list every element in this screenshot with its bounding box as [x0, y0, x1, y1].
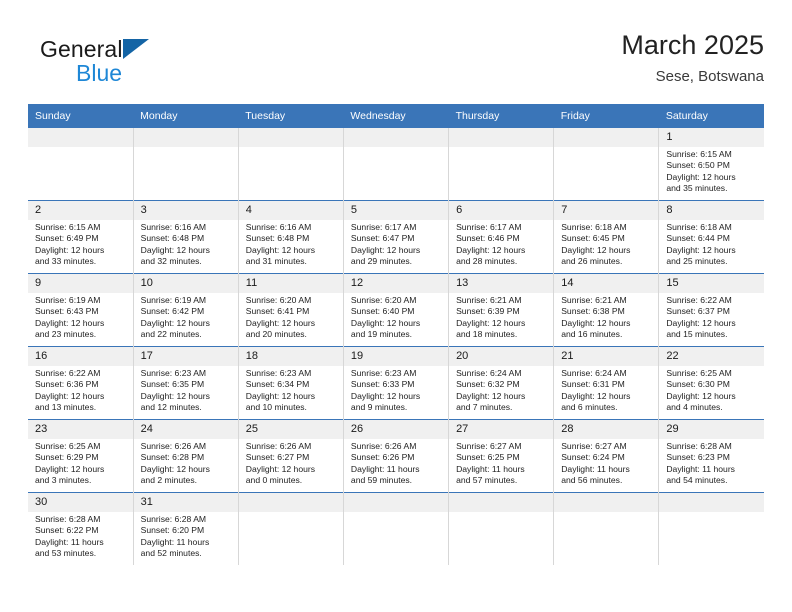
day-detail-line: Sunset: 6:41 PM [246, 306, 339, 317]
day-number: 18 [239, 347, 343, 366]
day-number: 17 [134, 347, 238, 366]
day-detail-line: Sunrise: 6:19 AM [35, 295, 129, 306]
day-details: Sunrise: 6:22 AMSunset: 6:37 PMDaylight:… [659, 293, 764, 343]
day-number: 26 [344, 420, 448, 439]
day-detail-line: Sunrise: 6:15 AM [666, 149, 760, 160]
brand-text-blue: Blue [76, 60, 260, 86]
day-details: Sunrise: 6:28 AMSunset: 6:23 PMDaylight:… [659, 439, 764, 489]
calendar-day-cell[interactable]: 10Sunrise: 6:19 AMSunset: 6:42 PMDayligh… [133, 274, 238, 347]
calendar-empty-cell [343, 493, 448, 566]
day-number: 30 [28, 493, 133, 512]
day-detail-line: and 7 minutes. [456, 402, 549, 413]
day-number: 7 [554, 201, 658, 220]
day-detail-line: Sunset: 6:26 PM [351, 452, 444, 463]
day-detail-line: Sunset: 6:35 PM [141, 379, 234, 390]
day-detail-line: Daylight: 12 hours [246, 318, 339, 329]
day-detail-line: Sunrise: 6:16 AM [246, 222, 339, 233]
day-number: 9 [28, 274, 133, 293]
calendar-day-cell[interactable]: 9Sunrise: 6:19 AMSunset: 6:43 PMDaylight… [28, 274, 133, 347]
day-detail-line: Sunset: 6:48 PM [246, 233, 339, 244]
day-detail-line: Daylight: 12 hours [456, 318, 549, 329]
day-details: Sunrise: 6:16 AMSunset: 6:48 PMDaylight:… [134, 220, 238, 270]
day-detail-line: Sunrise: 6:27 AM [456, 441, 549, 452]
calendar-day-cell[interactable]: 14Sunrise: 6:21 AMSunset: 6:38 PMDayligh… [554, 274, 659, 347]
day-number: 21 [554, 347, 658, 366]
day-detail-line: and 25 minutes. [666, 256, 760, 267]
calendar-day-cell[interactable]: 16Sunrise: 6:22 AMSunset: 6:36 PMDayligh… [28, 347, 133, 420]
day-detail-line: and 0 minutes. [246, 475, 339, 486]
calendar-day-cell[interactable]: 25Sunrise: 6:26 AMSunset: 6:27 PMDayligh… [238, 420, 343, 493]
day-detail-line: Sunset: 6:38 PM [561, 306, 654, 317]
day-details: Sunrise: 6:25 AMSunset: 6:29 PMDaylight:… [28, 439, 133, 489]
day-detail-line: Daylight: 12 hours [666, 391, 760, 402]
day-detail-line: Sunset: 6:33 PM [351, 379, 444, 390]
day-detail-line: Sunrise: 6:18 AM [561, 222, 654, 233]
day-details [344, 147, 448, 151]
day-number [28, 128, 133, 147]
day-detail-line: and 10 minutes. [246, 402, 339, 413]
day-detail-line: and 33 minutes. [35, 256, 129, 267]
day-detail-line: Daylight: 12 hours [561, 318, 654, 329]
day-number: 23 [28, 420, 133, 439]
day-detail-line: Daylight: 12 hours [246, 391, 339, 402]
day-detail-line: Sunrise: 6:17 AM [351, 222, 444, 233]
day-detail-line: Sunset: 6:20 PM [141, 525, 234, 536]
page-title: March 2025 [621, 28, 764, 62]
day-detail-line: and 16 minutes. [561, 329, 654, 340]
day-details [449, 147, 553, 151]
day-detail-line: Sunrise: 6:16 AM [141, 222, 234, 233]
calendar-day-cell[interactable]: 23Sunrise: 6:25 AMSunset: 6:29 PMDayligh… [28, 420, 133, 493]
day-details: Sunrise: 6:25 AMSunset: 6:30 PMDaylight:… [659, 366, 764, 416]
day-number: 29 [659, 420, 764, 439]
title-block: March 2025 Sese, Botswana [621, 28, 764, 88]
day-detail-line: Sunset: 6:27 PM [246, 452, 339, 463]
day-detail-line: and 23 minutes. [35, 329, 129, 340]
day-detail-line: Sunrise: 6:28 AM [666, 441, 760, 452]
day-detail-line: and 28 minutes. [456, 256, 549, 267]
day-detail-line: Daylight: 12 hours [141, 391, 234, 402]
day-detail-line: Sunset: 6:31 PM [561, 379, 654, 390]
calendar-day-cell[interactable]: 2Sunrise: 6:15 AMSunset: 6:49 PMDaylight… [28, 201, 133, 274]
calendar-day-cell[interactable]: 28Sunrise: 6:27 AMSunset: 6:24 PMDayligh… [554, 420, 659, 493]
day-detail-line: Sunrise: 6:21 AM [561, 295, 654, 306]
day-details: Sunrise: 6:28 AMSunset: 6:22 PMDaylight:… [28, 512, 133, 562]
day-detail-line: Sunrise: 6:20 AM [351, 295, 444, 306]
calendar-week-row: 16Sunrise: 6:22 AMSunset: 6:36 PMDayligh… [28, 347, 764, 420]
calendar-day-cell[interactable]: 31Sunrise: 6:28 AMSunset: 6:20 PMDayligh… [133, 493, 238, 566]
day-detail-line: Sunset: 6:43 PM [35, 306, 129, 317]
day-detail-line: Sunrise: 6:24 AM [561, 368, 654, 379]
day-detail-line: Daylight: 11 hours [456, 464, 549, 475]
day-detail-line: Sunrise: 6:22 AM [666, 295, 760, 306]
day-detail-line: Sunset: 6:40 PM [351, 306, 444, 317]
calendar-day-cell[interactable]: 24Sunrise: 6:26 AMSunset: 6:28 PMDayligh… [133, 420, 238, 493]
calendar-day-cell[interactable]: 20Sunrise: 6:24 AMSunset: 6:32 PMDayligh… [449, 347, 554, 420]
day-number [134, 128, 238, 147]
page-subtitle: Sese, Botswana [621, 66, 764, 88]
day-detail-line: Daylight: 12 hours [246, 464, 339, 475]
day-detail-line: Sunset: 6:46 PM [456, 233, 549, 244]
day-detail-line: Sunset: 6:49 PM [35, 233, 129, 244]
weekday-header-row: SundayMondayTuesdayWednesdayThursdayFrid… [28, 104, 764, 128]
day-detail-line: Sunrise: 6:26 AM [246, 441, 339, 452]
day-number: 20 [449, 347, 553, 366]
day-detail-line: Daylight: 12 hours [456, 245, 549, 256]
day-detail-line: and 53 minutes. [35, 548, 129, 559]
day-detail-line: Daylight: 11 hours [666, 464, 760, 475]
day-number [239, 128, 343, 147]
calendar-day-cell[interactable]: 8Sunrise: 6:18 AMSunset: 6:44 PMDaylight… [659, 201, 764, 274]
day-details [554, 147, 658, 151]
day-details: Sunrise: 6:19 AMSunset: 6:43 PMDaylight:… [28, 293, 133, 343]
day-detail-line: Sunset: 6:34 PM [246, 379, 339, 390]
day-detail-line: Sunset: 6:32 PM [456, 379, 549, 390]
day-detail-line: and 9 minutes. [351, 402, 444, 413]
day-details: Sunrise: 6:18 AMSunset: 6:44 PMDaylight:… [659, 220, 764, 270]
calendar-day-cell[interactable]: 3Sunrise: 6:16 AMSunset: 6:48 PMDaylight… [133, 201, 238, 274]
day-detail-line: Sunrise: 6:23 AM [351, 368, 444, 379]
calendar-day-cell[interactable]: 21Sunrise: 6:24 AMSunset: 6:31 PMDayligh… [554, 347, 659, 420]
day-detail-line: Sunset: 6:23 PM [666, 452, 760, 463]
day-details [28, 147, 133, 151]
day-detail-line: Sunset: 6:36 PM [35, 379, 129, 390]
day-number: 13 [449, 274, 553, 293]
day-detail-line: Daylight: 12 hours [351, 318, 444, 329]
day-detail-line: Sunrise: 6:23 AM [246, 368, 339, 379]
calendar-week-row: 30Sunrise: 6:28 AMSunset: 6:22 PMDayligh… [28, 493, 764, 566]
calendar-day-cell[interactable]: 11Sunrise: 6:20 AMSunset: 6:41 PMDayligh… [238, 274, 343, 347]
calendar-empty-cell [449, 128, 554, 201]
day-detail-line: Daylight: 11 hours [35, 537, 129, 548]
day-detail-line: Sunset: 6:24 PM [561, 452, 654, 463]
day-detail-line: Sunset: 6:48 PM [141, 233, 234, 244]
day-number [449, 493, 553, 512]
day-detail-line: and 18 minutes. [456, 329, 549, 340]
day-detail-line: Daylight: 12 hours [351, 245, 444, 256]
day-detail-line: Sunrise: 6:22 AM [35, 368, 129, 379]
weekday-header-wednesday: Wednesday [343, 104, 448, 128]
day-detail-line: Daylight: 12 hours [456, 391, 549, 402]
calendar-empty-cell [133, 128, 238, 201]
brand-text-general: General [40, 36, 123, 62]
day-detail-line: Sunrise: 6:15 AM [35, 222, 129, 233]
day-details: Sunrise: 6:16 AMSunset: 6:48 PMDaylight:… [239, 220, 343, 270]
day-detail-line: Sunset: 6:29 PM [35, 452, 129, 463]
calendar-day-cell[interactable]: 22Sunrise: 6:25 AMSunset: 6:30 PMDayligh… [659, 347, 764, 420]
day-number: 31 [134, 493, 238, 512]
day-detail-line: Daylight: 11 hours [351, 464, 444, 475]
day-details: Sunrise: 6:17 AMSunset: 6:46 PMDaylight:… [449, 220, 553, 270]
day-detail-line: Daylight: 12 hours [666, 318, 760, 329]
calendar-page: General Blue March 2025 Sese, Botswana S… [0, 0, 792, 612]
calendar-day-cell[interactable]: 13Sunrise: 6:21 AMSunset: 6:39 PMDayligh… [449, 274, 554, 347]
calendar-day-cell[interactable]: 1Sunrise: 6:15 AMSunset: 6:50 PMDaylight… [659, 128, 764, 201]
day-number: 14 [554, 274, 658, 293]
day-detail-line: Daylight: 12 hours [561, 245, 654, 256]
day-details: Sunrise: 6:28 AMSunset: 6:20 PMDaylight:… [134, 512, 238, 562]
triangle-flag-icon [123, 39, 149, 59]
day-number: 10 [134, 274, 238, 293]
day-detail-line: Daylight: 12 hours [246, 245, 339, 256]
day-detail-line: Daylight: 12 hours [666, 172, 760, 183]
calendar-week-row: 9Sunrise: 6:19 AMSunset: 6:43 PMDaylight… [28, 274, 764, 347]
weekday-header-sunday: Sunday [28, 104, 133, 128]
calendar-week-row: 1Sunrise: 6:15 AMSunset: 6:50 PMDaylight… [28, 128, 764, 201]
day-detail-line: Sunrise: 6:26 AM [141, 441, 234, 452]
weekday-header-monday: Monday [133, 104, 238, 128]
day-details: Sunrise: 6:27 AMSunset: 6:24 PMDaylight:… [554, 439, 658, 489]
calendar-empty-cell [449, 493, 554, 566]
day-detail-line: Daylight: 12 hours [561, 391, 654, 402]
day-number: 16 [28, 347, 133, 366]
day-detail-line: and 4 minutes. [666, 402, 760, 413]
day-number: 11 [239, 274, 343, 293]
day-detail-line: Sunset: 6:28 PM [141, 452, 234, 463]
calendar-day-cell[interactable]: 18Sunrise: 6:23 AMSunset: 6:34 PMDayligh… [238, 347, 343, 420]
day-number: 3 [134, 201, 238, 220]
day-details [554, 512, 658, 516]
day-details: Sunrise: 6:19 AMSunset: 6:42 PMDaylight:… [134, 293, 238, 343]
day-detail-line: and 31 minutes. [246, 256, 339, 267]
day-detail-line: Sunrise: 6:28 AM [35, 514, 129, 525]
day-detail-line: Sunset: 6:30 PM [666, 379, 760, 390]
day-details [344, 512, 448, 516]
day-detail-line: and 12 minutes. [141, 402, 234, 413]
calendar-empty-cell [238, 128, 343, 201]
day-detail-line: Sunrise: 6:26 AM [351, 441, 444, 452]
day-detail-line: and 3 minutes. [35, 475, 129, 486]
day-details: Sunrise: 6:26 AMSunset: 6:26 PMDaylight:… [344, 439, 448, 489]
day-detail-line: Sunrise: 6:17 AM [456, 222, 549, 233]
day-detail-line: and 20 minutes. [246, 329, 339, 340]
day-details [239, 147, 343, 151]
day-number [344, 493, 448, 512]
weekday-header-saturday: Saturday [659, 104, 764, 128]
day-detail-line: Sunrise: 6:25 AM [35, 441, 129, 452]
calendar-day-cell[interactable]: 19Sunrise: 6:23 AMSunset: 6:33 PMDayligh… [343, 347, 448, 420]
day-detail-line: Sunset: 6:45 PM [561, 233, 654, 244]
calendar-day-cell[interactable]: 15Sunrise: 6:22 AMSunset: 6:37 PMDayligh… [659, 274, 764, 347]
day-detail-line: Daylight: 12 hours [35, 391, 129, 402]
day-number: 25 [239, 420, 343, 439]
day-details: Sunrise: 6:26 AMSunset: 6:28 PMDaylight:… [134, 439, 238, 489]
day-details: Sunrise: 6:20 AMSunset: 6:40 PMDaylight:… [344, 293, 448, 343]
day-detail-line: Daylight: 11 hours [141, 537, 234, 548]
calendar-week-row: 23Sunrise: 6:25 AMSunset: 6:29 PMDayligh… [28, 420, 764, 493]
day-detail-line: and 15 minutes. [666, 329, 760, 340]
day-number: 1 [659, 128, 764, 147]
day-detail-line: and 26 minutes. [561, 256, 654, 267]
day-detail-line: and 54 minutes. [666, 475, 760, 486]
day-detail-line: Sunset: 6:47 PM [351, 233, 444, 244]
calendar-week-row: 2Sunrise: 6:15 AMSunset: 6:49 PMDaylight… [28, 201, 764, 274]
day-details: Sunrise: 6:24 AMSunset: 6:32 PMDaylight:… [449, 366, 553, 416]
masthead: General Blue March 2025 Sese, Botswana [28, 28, 764, 100]
calendar-empty-cell [238, 493, 343, 566]
calendar-day-cell[interactable]: 26Sunrise: 6:26 AMSunset: 6:26 PMDayligh… [343, 420, 448, 493]
day-detail-line: Daylight: 12 hours [35, 464, 129, 475]
day-detail-line: Sunset: 6:22 PM [35, 525, 129, 536]
day-detail-line: Sunrise: 6:21 AM [456, 295, 549, 306]
brand-logo[interactable]: General Blue [40, 36, 260, 96]
day-number: 24 [134, 420, 238, 439]
calendar-day-cell[interactable]: 30Sunrise: 6:28 AMSunset: 6:22 PMDayligh… [28, 493, 133, 566]
day-detail-line: Daylight: 12 hours [35, 318, 129, 329]
day-detail-line: Daylight: 12 hours [35, 245, 129, 256]
day-detail-line: and 35 minutes. [666, 183, 760, 194]
day-number: 4 [239, 201, 343, 220]
day-detail-line: and 13 minutes. [35, 402, 129, 413]
day-detail-line: Sunset: 6:42 PM [141, 306, 234, 317]
day-detail-line: Sunset: 6:25 PM [456, 452, 549, 463]
day-details: Sunrise: 6:15 AMSunset: 6:50 PMDaylight:… [659, 147, 764, 197]
day-detail-line: and 59 minutes. [351, 475, 444, 486]
day-details: Sunrise: 6:23 AMSunset: 6:35 PMDaylight:… [134, 366, 238, 416]
day-detail-line: and 29 minutes. [351, 256, 444, 267]
day-detail-line: and 57 minutes. [456, 475, 549, 486]
day-detail-line: and 22 minutes. [141, 329, 234, 340]
day-number [554, 128, 658, 147]
day-detail-line: Sunset: 6:50 PM [666, 160, 760, 171]
calendar-day-cell[interactable]: 6Sunrise: 6:17 AMSunset: 6:46 PMDaylight… [449, 201, 554, 274]
day-detail-line: Daylight: 12 hours [141, 464, 234, 475]
weekday-header-tuesday: Tuesday [238, 104, 343, 128]
day-details [134, 147, 238, 151]
day-detail-line: Sunset: 6:37 PM [666, 306, 760, 317]
day-detail-line: Sunrise: 6:18 AM [666, 222, 760, 233]
day-number [239, 493, 343, 512]
day-detail-line: Daylight: 12 hours [666, 245, 760, 256]
day-detail-line: Sunrise: 6:19 AM [141, 295, 234, 306]
day-details: Sunrise: 6:23 AMSunset: 6:34 PMDaylight:… [239, 366, 343, 416]
calendar-day-cell[interactable]: 12Sunrise: 6:20 AMSunset: 6:40 PMDayligh… [343, 274, 448, 347]
day-number [344, 128, 448, 147]
brand-name-primary: General [40, 36, 260, 62]
day-number [659, 493, 764, 512]
calendar-day-cell[interactable]: 29Sunrise: 6:28 AMSunset: 6:23 PMDayligh… [659, 420, 764, 493]
day-number: 28 [554, 420, 658, 439]
day-detail-line: and 2 minutes. [141, 475, 234, 486]
day-number: 12 [344, 274, 448, 293]
day-details: Sunrise: 6:23 AMSunset: 6:33 PMDaylight:… [344, 366, 448, 416]
day-detail-line: and 32 minutes. [141, 256, 234, 267]
day-detail-line: and 56 minutes. [561, 475, 654, 486]
day-detail-line: Sunset: 6:44 PM [666, 233, 760, 244]
day-details: Sunrise: 6:21 AMSunset: 6:38 PMDaylight:… [554, 293, 658, 343]
calendar-empty-cell [659, 493, 764, 566]
day-number: 22 [659, 347, 764, 366]
day-details: Sunrise: 6:26 AMSunset: 6:27 PMDaylight:… [239, 439, 343, 489]
day-details: Sunrise: 6:15 AMSunset: 6:49 PMDaylight:… [28, 220, 133, 270]
day-number: 6 [449, 201, 553, 220]
day-details [449, 512, 553, 516]
day-number [449, 128, 553, 147]
calendar-header-row: SundayMondayTuesdayWednesdayThursdayFrid… [28, 104, 764, 128]
day-details: Sunrise: 6:24 AMSunset: 6:31 PMDaylight:… [554, 366, 658, 416]
day-number: 19 [344, 347, 448, 366]
day-number: 2 [28, 201, 133, 220]
calendar-empty-cell [554, 493, 659, 566]
weekday-header-friday: Friday [554, 104, 659, 128]
calendar-empty-cell [554, 128, 659, 201]
calendar-day-cell[interactable]: 17Sunrise: 6:23 AMSunset: 6:35 PMDayligh… [133, 347, 238, 420]
day-detail-line: Sunset: 6:39 PM [456, 306, 549, 317]
day-number: 15 [659, 274, 764, 293]
day-details: Sunrise: 6:20 AMSunset: 6:41 PMDaylight:… [239, 293, 343, 343]
day-detail-line: Sunrise: 6:28 AM [141, 514, 234, 525]
day-detail-line: and 6 minutes. [561, 402, 654, 413]
day-detail-line: Daylight: 11 hours [561, 464, 654, 475]
weekday-header-thursday: Thursday [449, 104, 554, 128]
day-details [239, 512, 343, 516]
day-number: 27 [449, 420, 553, 439]
day-number: 8 [659, 201, 764, 220]
day-detail-line: Daylight: 12 hours [141, 245, 234, 256]
calendar-body: 1Sunrise: 6:15 AMSunset: 6:50 PMDaylight… [28, 128, 764, 565]
calendar-day-cell[interactable]: 27Sunrise: 6:27 AMSunset: 6:25 PMDayligh… [449, 420, 554, 493]
day-detail-line: Daylight: 12 hours [141, 318, 234, 329]
calendar-day-cell[interactable]: 4Sunrise: 6:16 AMSunset: 6:48 PMDaylight… [238, 201, 343, 274]
day-detail-line: Sunrise: 6:24 AM [456, 368, 549, 379]
calendar-empty-cell [28, 128, 133, 201]
day-detail-line: Daylight: 12 hours [351, 391, 444, 402]
day-details [659, 512, 764, 516]
day-detail-line: Sunrise: 6:27 AM [561, 441, 654, 452]
day-number [554, 493, 658, 512]
calendar-grid: SundayMondayTuesdayWednesdayThursdayFrid… [28, 104, 764, 565]
day-details: Sunrise: 6:27 AMSunset: 6:25 PMDaylight:… [449, 439, 553, 489]
calendar-day-cell[interactable]: 7Sunrise: 6:18 AMSunset: 6:45 PMDaylight… [554, 201, 659, 274]
day-details: Sunrise: 6:17 AMSunset: 6:47 PMDaylight:… [344, 220, 448, 270]
day-detail-line: and 19 minutes. [351, 329, 444, 340]
day-number: 5 [344, 201, 448, 220]
calendar-day-cell[interactable]: 5Sunrise: 6:17 AMSunset: 6:47 PMDaylight… [343, 201, 448, 274]
calendar-empty-cell [343, 128, 448, 201]
day-details: Sunrise: 6:22 AMSunset: 6:36 PMDaylight:… [28, 366, 133, 416]
day-detail-line: Sunrise: 6:25 AM [666, 368, 760, 379]
day-detail-line: Sunrise: 6:23 AM [141, 368, 234, 379]
day-details: Sunrise: 6:18 AMSunset: 6:45 PMDaylight:… [554, 220, 658, 270]
day-detail-line: and 52 minutes. [141, 548, 234, 559]
day-detail-line: Sunrise: 6:20 AM [246, 295, 339, 306]
day-details: Sunrise: 6:21 AMSunset: 6:39 PMDaylight:… [449, 293, 553, 343]
